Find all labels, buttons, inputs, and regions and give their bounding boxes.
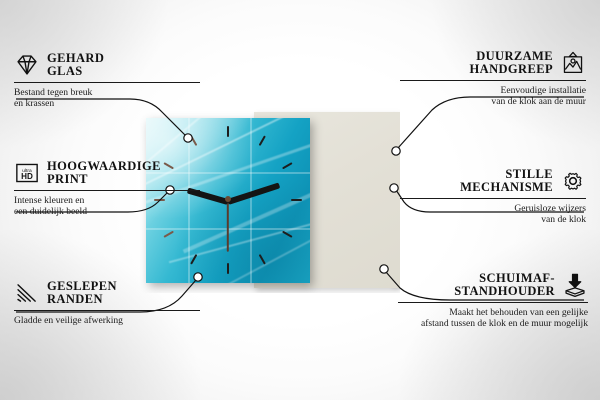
clock-second-hand: [227, 200, 229, 252]
feature-header: DUURZAME HANDGREEP: [400, 50, 586, 76]
clock-tick-12: [227, 126, 229, 137]
feature-desc-line2: van de klok aan de muur: [400, 96, 586, 107]
feature-desc-line1: Geruisloze wijzers: [400, 203, 586, 214]
feature-desc-line1: Intense kleuren en: [14, 195, 200, 206]
feature-divider: [398, 302, 588, 303]
feature-description: Intense kleuren en een duidelijk beeld: [14, 195, 200, 218]
feature-header: STILLE MECHANISME: [400, 168, 586, 194]
feature-header: SCHUIMAF- STANDHOUDER: [398, 272, 588, 298]
clock-tick-6: [227, 263, 229, 274]
feature-stille-mechanisme[interactable]: STILLE MECHANISME Geruisloze wijzers van…: [400, 168, 586, 226]
feature-desc-line2: een duidelijk beeld: [14, 206, 200, 217]
svg-text:HD: HD: [21, 172, 33, 181]
feature-divider: [400, 80, 586, 81]
feature-hoogwaardige-print[interactable]: ultra HD HOOGWAARDIGE PRINT Intense kleu…: [14, 160, 200, 218]
feature-desc-line2: afstand tussen de klok en de muur mogeli…: [398, 318, 588, 329]
clock-tick-3: [291, 199, 302, 201]
press-down-pad-icon: [562, 272, 588, 298]
feature-header: GEHARD GLAS: [14, 52, 200, 78]
diamond-icon: [14, 52, 40, 78]
feature-title-line2: GLAS: [47, 65, 104, 78]
feature-title: DUURZAME HANDGREEP: [470, 50, 553, 76]
feature-title-line2: STANDHOUDER: [454, 285, 555, 298]
feature-description: Bestand tegen breuk en krassen: [14, 87, 200, 110]
feature-description: Gladde en veilige afwerking: [14, 315, 200, 326]
feature-title-line2: RANDEN: [47, 293, 117, 306]
ultra-hd-icon: ultra HD: [14, 160, 40, 186]
feature-title: HOOGWAARDIGE PRINT: [47, 160, 161, 186]
feature-header: GESLEPEN RANDEN: [14, 280, 200, 306]
feature-title-line2: MECHANISME: [460, 181, 553, 194]
feature-title-line2: PRINT: [47, 173, 161, 186]
feature-header: ultra HD HOOGWAARDIGE PRINT: [14, 160, 200, 186]
feature-geslepen-randen[interactable]: GESLEPEN RANDEN Gladde en veilige afwerk…: [14, 280, 200, 326]
feature-desc-line2: en krassen: [14, 98, 200, 109]
clock-tick-2: [282, 162, 293, 169]
feature-divider: [14, 310, 200, 311]
feature-duurzame-handgreep[interactable]: DUURZAME HANDGREEP Eenvoudige installati…: [400, 50, 586, 108]
infographic-canvas: GEHARD GLAS Bestand tegen breuk en krass…: [0, 0, 600, 400]
feature-desc-line2: van de klok: [400, 214, 586, 225]
bevelled-edges-icon: [14, 280, 40, 306]
feature-desc-line1: Maakt het behouden van een gelijke: [398, 307, 588, 318]
feature-title: GESLEPEN RANDEN: [47, 280, 117, 306]
feature-schuimafstandhouder[interactable]: SCHUIMAF- STANDHOUDER Maakt het behouden…: [398, 272, 588, 330]
feature-divider: [14, 190, 200, 191]
glass-panel-seam: [250, 118, 252, 283]
feature-title: SCHUIMAF- STANDHOUDER: [454, 272, 555, 298]
feature-title: STILLE MECHANISME: [460, 168, 553, 194]
feature-desc-line1: Bestand tegen breuk: [14, 87, 200, 98]
feature-desc-line1: Eenvoudige installatie: [400, 85, 586, 96]
gear-icon: [560, 168, 586, 194]
feature-gehard-glas[interactable]: GEHARD GLAS Bestand tegen breuk en krass…: [14, 52, 200, 110]
feature-desc-line1: Gladde en veilige afwerking: [14, 315, 200, 326]
feature-divider: [400, 198, 586, 199]
framed-picture-icon: [560, 50, 586, 76]
feature-divider: [14, 82, 200, 83]
clock-center-cap: [225, 196, 231, 202]
feature-title-line2: HANDGREEP: [470, 63, 553, 76]
feature-description: Geruisloze wijzers van de klok: [400, 203, 586, 226]
feature-title: GEHARD GLAS: [47, 52, 104, 78]
feature-description: Eenvoudige installatie van de klok aan d…: [400, 85, 586, 108]
feature-description: Maakt het behouden van een gelijke afsta…: [398, 307, 588, 330]
